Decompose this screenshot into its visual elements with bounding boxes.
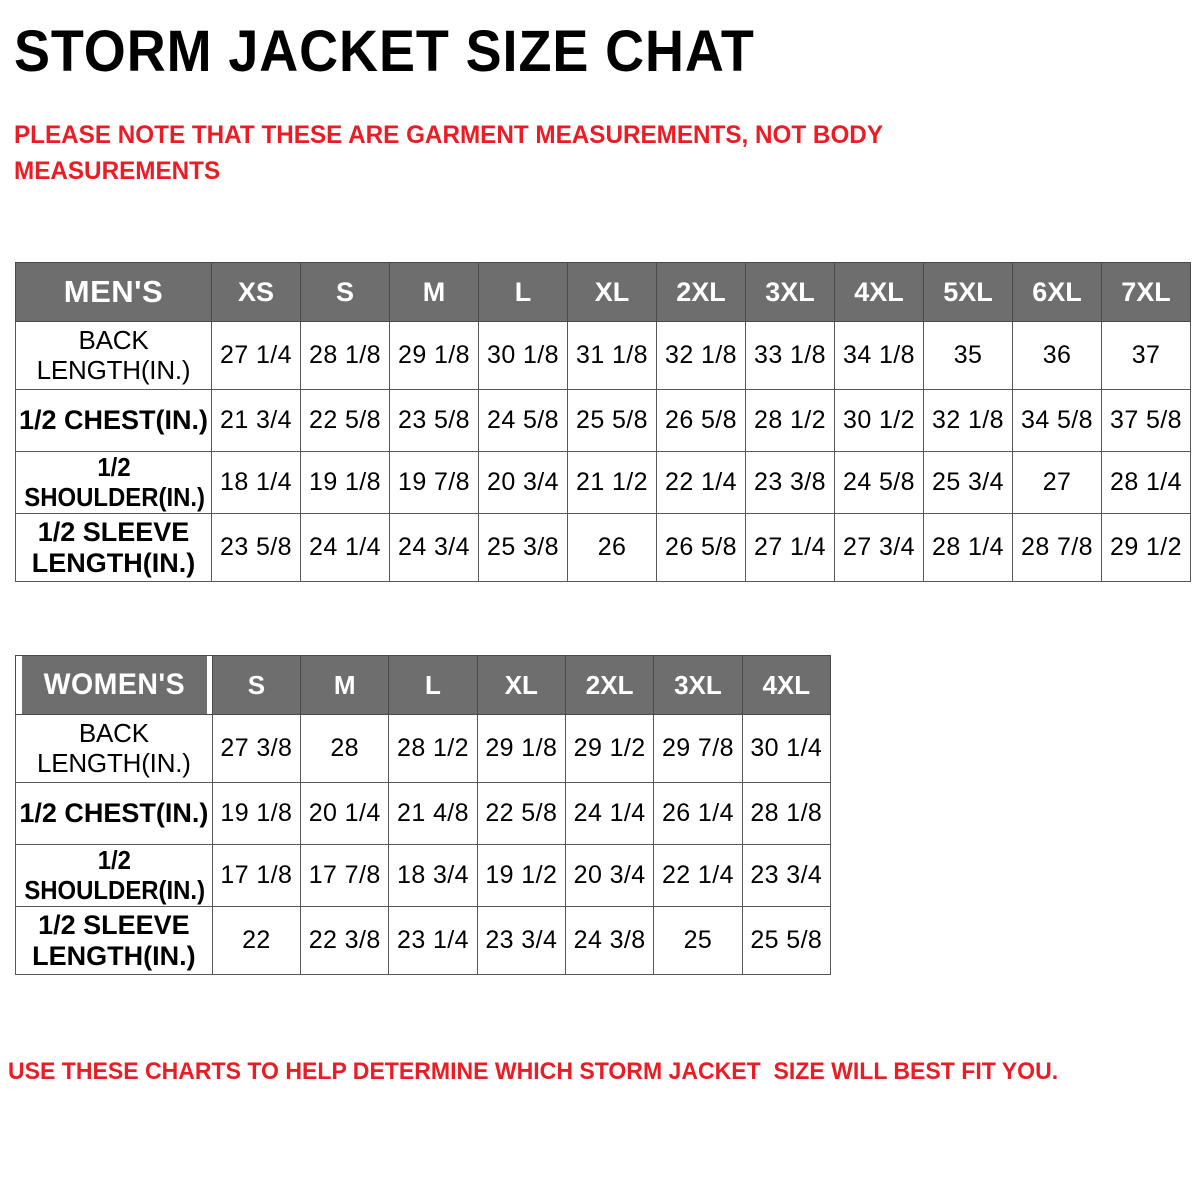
womens-measurement-cell: 17 7/8 (301, 845, 389, 907)
mens-measurement-cell: 36 (1013, 322, 1102, 390)
mens-size-header-6xl: 6XL (1013, 263, 1102, 322)
mens-measurement-cell: 34 1/8 (835, 322, 924, 390)
womens-measurement-cell: 24 1/4 (565, 783, 653, 845)
womens-measurement-cell: 24 3/8 (565, 907, 653, 975)
mens-row-label: 1/2 SHOULDER(IN.) (23, 452, 203, 514)
womens-measurement-cell: 29 1/2 (565, 715, 653, 783)
mens-measurement-cell: 31 1/8 (568, 322, 657, 390)
womens-measurement-cell: 26 1/4 (654, 783, 742, 845)
womens-measurement-cell: 28 1/8 (742, 783, 830, 845)
mens-measurement-cell: 19 7/8 (390, 452, 479, 514)
mens-measurement-cell: 32 1/8 (924, 390, 1013, 452)
page-title: STORM JACKET SIZE CHAT (14, 22, 755, 83)
mens-measurement-cell: 30 1/8 (479, 322, 568, 390)
mens-measurement-cell: 26 (568, 514, 657, 582)
womens-table-row: 1/2 CHEST(IN.)19 1/820 1/421 4/822 5/824… (16, 783, 831, 845)
mens-measurement-cell: 28 7/8 (1013, 514, 1102, 582)
womens-measurement-cell: 28 (301, 715, 389, 783)
womens-measurement-cell: 22 5/8 (477, 783, 565, 845)
mens-table-body: BACK LENGTH(IN.)27 1/428 1/829 1/830 1/8… (16, 322, 1191, 582)
mens-measurement-cell: 23 3/8 (746, 452, 835, 514)
mens-size-header-s: S (301, 263, 390, 322)
mens-measurement-cell: 32 1/8 (657, 322, 746, 390)
mens-measurement-cell: 24 3/4 (390, 514, 479, 582)
mens-measurement-cell: 29 1/8 (390, 322, 479, 390)
mens-measurement-cell: 26 5/8 (657, 514, 746, 582)
womens-size-header-3xl: 3XL (654, 656, 742, 715)
womens-measurement-cell: 29 7/8 (654, 715, 742, 783)
mens-table-head: MEN'SXSSMLXL2XL3XL4XL5XL6XL7XL (16, 263, 1191, 322)
mens-table-row: 1/2 SHOULDER(IN.)18 1/419 1/819 7/820 3/… (16, 452, 1191, 514)
mens-size-header-2xl: 2XL (657, 263, 746, 322)
mens-size-table: MEN'SXSSMLXL2XL3XL4XL5XL6XL7XL BACK LENG… (15, 262, 1191, 582)
mens-measurement-cell: 23 5/8 (212, 514, 301, 582)
mens-row-label: 1/2 CHEST(IN.) (16, 390, 212, 452)
mens-measurement-cell: 24 1/4 (301, 514, 390, 582)
womens-table-row: 1/2 SLEEVE LENGTH(IN.)2222 3/823 1/423 3… (16, 907, 831, 975)
mens-size-header-4xl: 4XL (835, 263, 924, 322)
mens-measurement-cell: 28 1/4 (1102, 452, 1191, 514)
mens-row-label: BACK LENGTH(IN.) (16, 322, 212, 390)
womens-measurement-cell: 20 3/4 (565, 845, 653, 907)
mens-measurement-cell: 23 5/8 (390, 390, 479, 452)
womens-row-label: 1/2 CHEST(IN.) (16, 783, 213, 845)
mens-measurement-cell: 25 3/4 (924, 452, 1013, 514)
mens-measurement-cell: 25 3/8 (479, 514, 568, 582)
womens-measurement-cell: 19 1/8 (212, 783, 300, 845)
mens-measurement-cell: 22 5/8 (301, 390, 390, 452)
mens-measurement-cell: 25 5/8 (568, 390, 657, 452)
mens-table-row: BACK LENGTH(IN.)27 1/428 1/829 1/830 1/8… (16, 322, 1191, 390)
mens-size-header-7xl: 7XL (1102, 263, 1191, 322)
mens-measurement-cell: 29 1/2 (1102, 514, 1191, 582)
mens-measurement-cell: 18 1/4 (212, 452, 301, 514)
size-help-note: USE THESE CHARTS TO HELP DETERMINE WHICH… (8, 1056, 1112, 1087)
womens-measurement-cell: 29 1/8 (477, 715, 565, 783)
garment-measurement-note: PLEASE NOTE THAT THESE ARE GARMENT MEASU… (14, 118, 945, 189)
womens-row-label: 1/2 SHOULDER(IN.) (23, 845, 204, 907)
womens-measurement-cell: 30 1/4 (742, 715, 830, 783)
womens-size-header-s: S (212, 656, 300, 715)
mens-measurement-cell: 33 1/8 (746, 322, 835, 390)
womens-table-head: WOMEN'SSMLXL2XL3XL4XL (16, 656, 831, 715)
mens-size-header-3xl: 3XL (746, 263, 835, 322)
mens-row-label: 1/2 SLEEVE LENGTH(IN.) (16, 514, 212, 582)
womens-size-header-4xl: 4XL (742, 656, 830, 715)
womens-table-row: BACK LENGTH(IN.)27 3/82828 1/229 1/829 1… (16, 715, 831, 783)
mens-measurement-cell: 28 1/2 (746, 390, 835, 452)
mens-measurement-cell: 28 1/8 (301, 322, 390, 390)
mens-measurement-cell: 20 3/4 (479, 452, 568, 514)
mens-measurement-cell: 24 5/8 (479, 390, 568, 452)
womens-measurement-cell: 23 3/4 (477, 907, 565, 975)
womens-measurement-cell: 18 3/4 (389, 845, 477, 907)
womens-measurement-cell: 17 1/8 (212, 845, 300, 907)
womens-size-header-l: L (389, 656, 477, 715)
mens-size-header-l: L (479, 263, 568, 322)
womens-measurement-cell: 21 4/8 (389, 783, 477, 845)
womens-size-table: WOMEN'SSMLXL2XL3XL4XL BACK LENGTH(IN.)27… (15, 655, 831, 975)
womens-size-header-m: M (301, 656, 389, 715)
mens-measurement-cell: 28 1/4 (924, 514, 1013, 582)
mens-category-header: MEN'S (16, 263, 212, 322)
mens-measurement-cell: 30 1/2 (835, 390, 924, 452)
mens-measurement-cell: 35 (924, 322, 1013, 390)
womens-size-header-2xl: 2XL (565, 656, 653, 715)
mens-measurement-cell: 27 (1013, 452, 1102, 514)
womens-measurement-cell: 19 1/2 (477, 845, 565, 907)
womens-measurement-cell: 20 1/4 (301, 783, 389, 845)
mens-measurement-cell: 27 1/4 (212, 322, 301, 390)
mens-table-row: 1/2 CHEST(IN.)21 3/422 5/823 5/824 5/825… (16, 390, 1191, 452)
mens-measurement-cell: 21 1/2 (568, 452, 657, 514)
mens-size-header-5xl: 5XL (924, 263, 1013, 322)
mens-measurement-cell: 37 5/8 (1102, 390, 1191, 452)
womens-row-label: BACK LENGTH(IN.) (16, 715, 213, 783)
womens-measurement-cell: 25 5/8 (742, 907, 830, 975)
womens-table-body: BACK LENGTH(IN.)27 3/82828 1/229 1/829 1… (16, 715, 831, 975)
womens-size-header-xl: XL (477, 656, 565, 715)
womens-measurement-cell: 27 3/8 (212, 715, 300, 783)
mens-measurement-cell: 21 3/4 (212, 390, 301, 452)
womens-measurement-cell: 23 3/4 (742, 845, 830, 907)
womens-measurement-cell: 25 (654, 907, 742, 975)
mens-measurement-cell: 22 1/4 (657, 452, 746, 514)
womens-row-label: 1/2 SLEEVE LENGTH(IN.) (16, 907, 213, 975)
womens-header-row: WOMEN'SSMLXL2XL3XL4XL (16, 656, 831, 715)
womens-measurement-cell: 28 1/2 (389, 715, 477, 783)
mens-size-header-xl: XL (568, 263, 657, 322)
mens-measurement-cell: 26 5/8 (657, 390, 746, 452)
mens-measurement-cell: 27 3/4 (835, 514, 924, 582)
mens-size-header-xs: XS (212, 263, 301, 322)
mens-table-row: 1/2 SLEEVE LENGTH(IN.)23 5/824 1/424 3/4… (16, 514, 1191, 582)
mens-size-header-m: M (390, 263, 479, 322)
womens-category-header: WOMEN'S (20, 656, 207, 715)
womens-measurement-cell: 22 1/4 (654, 845, 742, 907)
mens-measurement-cell: 19 1/8 (301, 452, 390, 514)
mens-header-row: MEN'SXSSMLXL2XL3XL4XL5XL6XL7XL (16, 263, 1191, 322)
mens-measurement-cell: 24 5/8 (835, 452, 924, 514)
mens-measurement-cell: 34 5/8 (1013, 390, 1102, 452)
mens-measurement-cell: 37 (1102, 322, 1191, 390)
womens-measurement-cell: 22 (212, 907, 300, 975)
womens-measurement-cell: 22 3/8 (301, 907, 389, 975)
mens-measurement-cell: 27 1/4 (746, 514, 835, 582)
womens-measurement-cell: 23 1/4 (389, 907, 477, 975)
womens-table-row: 1/2 SHOULDER(IN.)17 1/817 7/818 3/419 1/… (16, 845, 831, 907)
